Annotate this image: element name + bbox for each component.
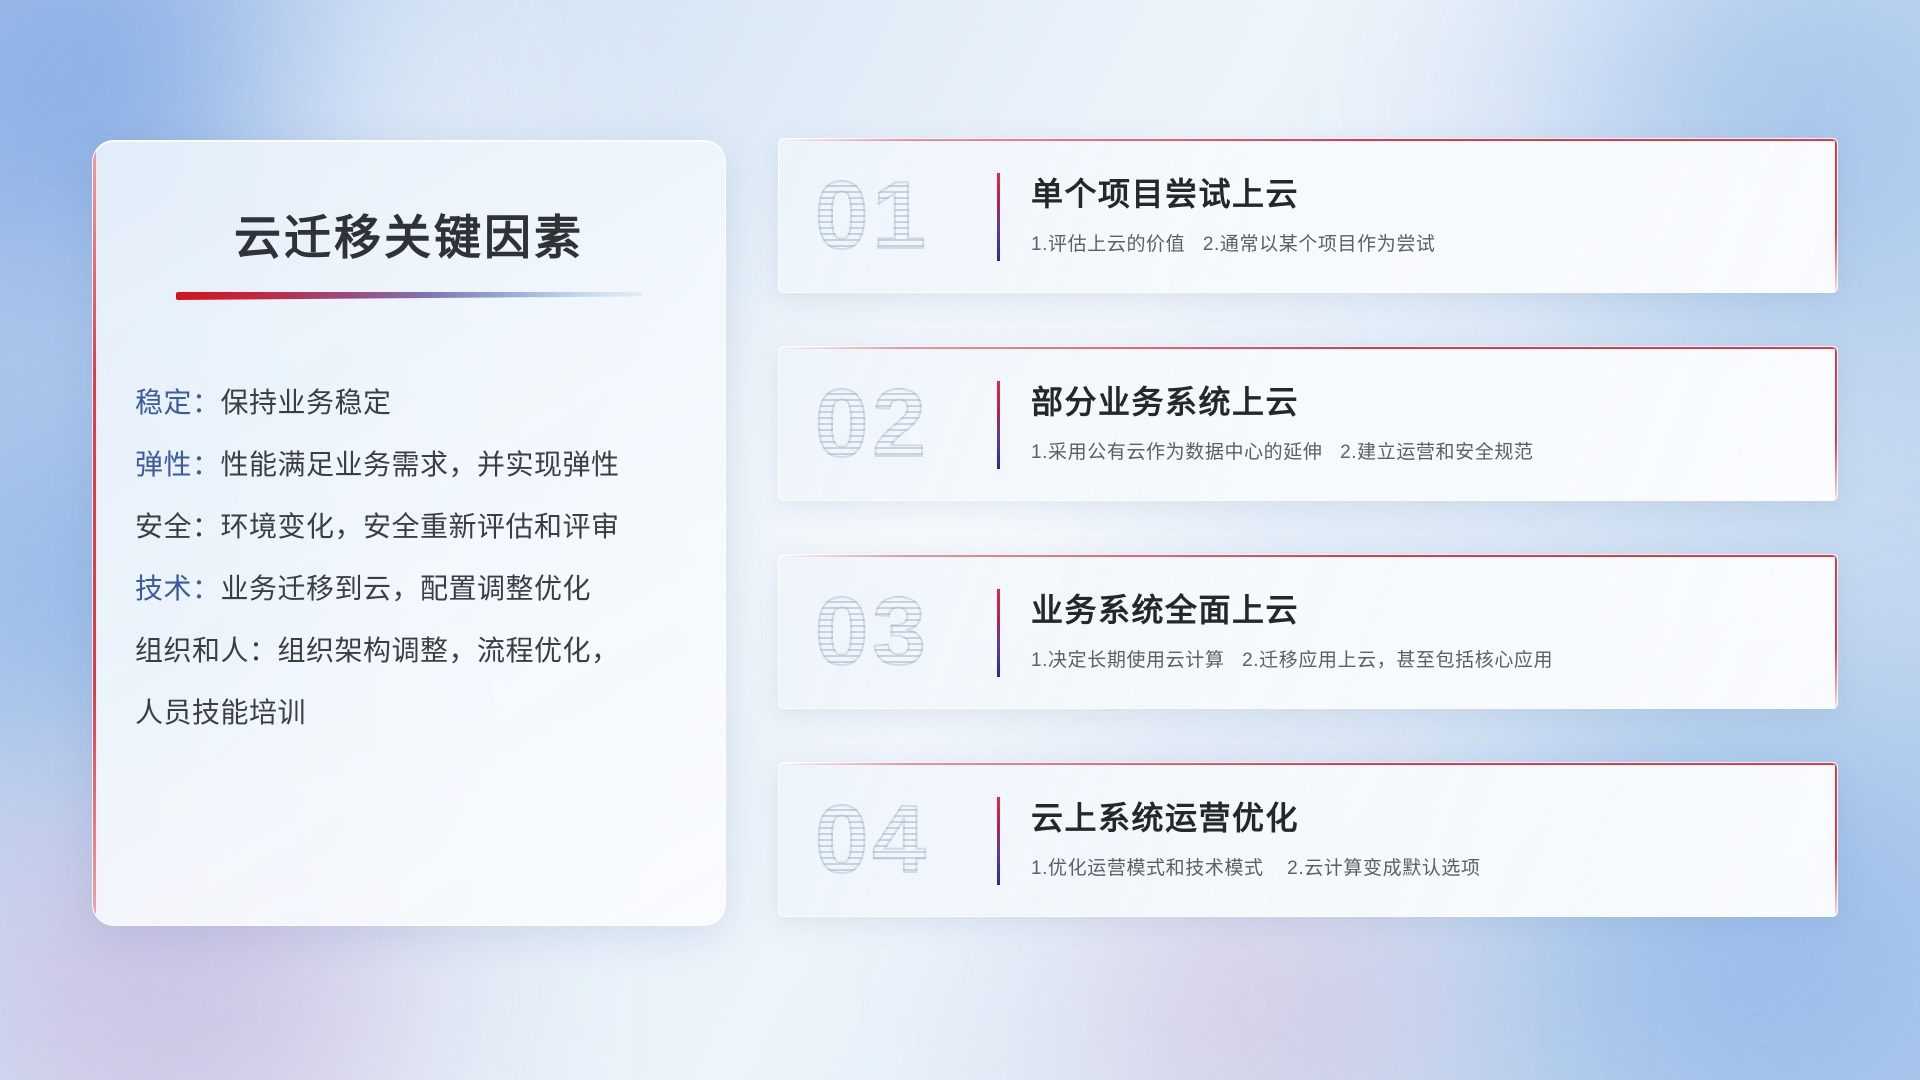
factor-text: 人员技能培训 (135, 697, 306, 728)
cloud-migration-stage-cards: 01单个项目尝试上云1.评估上云的价值 2.通常以某个项目作为尝试02部分业务系… (778, 138, 1838, 970)
factor-label: 技术： (135, 573, 221, 604)
factor-text: 保持业务稳定 (221, 387, 392, 418)
stage-number-watermark: 01 (815, 161, 930, 271)
card-accent-bar (997, 589, 1000, 677)
key-factors-panel: 云迁移关键因素 稳定：保持业务稳定弹性：性能满足业务需求，并实现弹性安全：环境变… (92, 140, 726, 926)
card-description: 1.优化运营模式和技术模式 2.云计算变成默认选项 (1031, 853, 1797, 880)
card-description: 1.评估上云的价值 2.通常以某个项目作为尝试 (1031, 229, 1797, 256)
card-description: 1.决定长期使用云计算 2.迁移应用上云，甚至包括核心应用 (1031, 645, 1797, 672)
card-accent-bar (997, 381, 1000, 469)
card-body: 云上系统运营优化1.优化运营模式和技术模式 2.云计算变成默认选项 (1031, 793, 1797, 880)
card-body: 业务系统全面上云1.决定长期使用云计算 2.迁移应用上云，甚至包括核心应用 (1031, 585, 1797, 672)
factor-label: 稳定： (135, 387, 221, 418)
factor-label: 安全： (135, 511, 221, 542)
stage-card[interactable]: 01单个项目尝试上云1.评估上云的价值 2.通常以某个项目作为尝试 (778, 138, 1838, 293)
stage-card[interactable]: 04云上系统运营优化1.优化运营模式和技术模式 2.云计算变成默认选项 (778, 762, 1838, 917)
factor-item: 组织和人：组织架构调整，流程优化， (135, 620, 725, 682)
card-body: 单个项目尝试上云1.评估上云的价值 2.通常以某个项目作为尝试 (1031, 169, 1797, 256)
slide-stage: 云迁移关键因素 稳定：保持业务稳定弹性：性能满足业务需求，并实现弹性安全：环境变… (0, 0, 1920, 1080)
card-body: 部分业务系统上云1.采用公有云作为数据中心的延伸 2.建立运营和安全规范 (1031, 377, 1797, 464)
factor-text: 业务迁移到云，配置调整优化 (221, 573, 592, 604)
factor-label: 弹性： (135, 449, 221, 480)
factor-item: 技术：业务迁移到云，配置调整优化 (135, 558, 725, 620)
factor-text: 环境变化，安全重新评估和评审 (221, 511, 620, 542)
page-title: 云迁移关键因素 (93, 199, 725, 268)
card-accent-bar (997, 797, 1000, 885)
factor-text: 组织架构调整，流程优化， (278, 635, 620, 666)
card-title: 部分业务系统上云 (1031, 377, 1797, 423)
key-factors-list: 稳定：保持业务稳定弹性：性能满足业务需求，并实现弹性安全：环境变化，安全重新评估… (135, 372, 725, 744)
card-description: 1.采用公有云作为数据中心的延伸 2.建立运营和安全规范 (1031, 437, 1797, 464)
card-accent-bar (997, 173, 1000, 261)
factor-item: 稳定：保持业务稳定 (135, 372, 725, 434)
stage-card[interactable]: 03业务系统全面上云1.决定长期使用云计算 2.迁移应用上云，甚至包括核心应用 (778, 554, 1838, 709)
card-title: 云上系统运营优化 (1031, 793, 1797, 839)
stage-number-watermark: 04 (815, 785, 930, 895)
stage-card[interactable]: 02部分业务系统上云1.采用公有云作为数据中心的延伸 2.建立运营和安全规范 (778, 346, 1838, 501)
factor-label: 组织和人： (135, 635, 278, 666)
factor-item: 安全：环境变化，安全重新评估和评审 (135, 496, 725, 558)
stage-number-watermark: 02 (815, 369, 930, 479)
factor-item: 人员技能培训 (135, 682, 725, 744)
title-underline-gradient (176, 292, 642, 300)
stage-number-watermark: 03 (815, 577, 930, 687)
card-title: 单个项目尝试上云 (1031, 169, 1797, 215)
card-title: 业务系统全面上云 (1031, 585, 1797, 631)
factor-text: 性能满足业务需求，并实现弹性 (221, 449, 620, 480)
factor-item: 弹性：性能满足业务需求，并实现弹性 (135, 434, 725, 496)
